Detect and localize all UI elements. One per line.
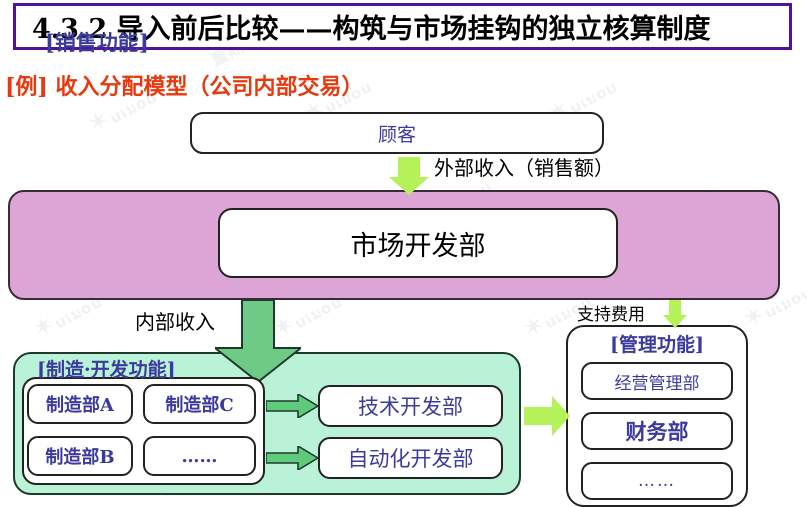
automation-development-box: 自动化开发部 — [318, 437, 503, 479]
customer-label: 顾客 — [378, 120, 416, 147]
manufacturing-dept-a: 制造部A — [27, 384, 133, 424]
market-development-label: 市场开发部 — [351, 224, 486, 263]
sales-function-label: [销售功能] — [45, 27, 149, 57]
manufacturing-dept-more: …… — [143, 436, 256, 476]
mfg-to-mgmt-arrow-icon — [524, 396, 570, 436]
management-dept-more: …… — [581, 462, 733, 500]
support-cost-label: 支持费用 — [577, 300, 645, 325]
external-revenue-arrow-icon — [389, 157, 429, 195]
technology-development-box: 技术开发部 — [318, 385, 503, 427]
manufacturing-dept-c-label: 制造部C — [165, 391, 233, 417]
technology-development-label: 技术开发部 — [358, 391, 463, 421]
market-development-box: 市场开发部 — [218, 208, 618, 278]
manufacturing-dept-b-label: 制造部B — [45, 443, 114, 469]
customer-box: 顾客 — [190, 112, 604, 154]
automation-development-label: 自动化开发部 — [348, 443, 474, 473]
manufacturing-dept-b: 制造部B — [27, 436, 133, 476]
management-dept-more-label: …… — [638, 471, 676, 491]
mfg-to-auto-arrow-icon — [266, 446, 318, 470]
manufacturing-dept-a-label: 制造部A — [46, 391, 114, 417]
internal-revenue-label: 内部收入 — [135, 306, 215, 335]
management-dept-finance: 财务部 — [581, 412, 733, 450]
management-dept-operations: 经营管理部 — [581, 362, 733, 400]
manufacturing-dept-more-label: …… — [182, 446, 218, 467]
management-dept-operations-label: 经营管理部 — [615, 369, 700, 394]
internal-revenue-arrow-icon — [215, 300, 301, 382]
support-cost-arrow-icon — [663, 300, 687, 328]
mfg-to-tech-arrow-icon — [266, 394, 318, 418]
manufacturing-function-label: [制造·开发功能] — [37, 355, 176, 382]
management-dept-finance-label: 财务部 — [626, 416, 689, 446]
manufacturing-dept-c: 制造部C — [143, 384, 256, 424]
external-revenue-label: 外部收入（销售额） — [434, 152, 614, 181]
management-function-label: [管理功能] — [566, 330, 748, 357]
example-subtitle: [例] 收入分配模型（公司内部交易） — [5, 69, 363, 101]
